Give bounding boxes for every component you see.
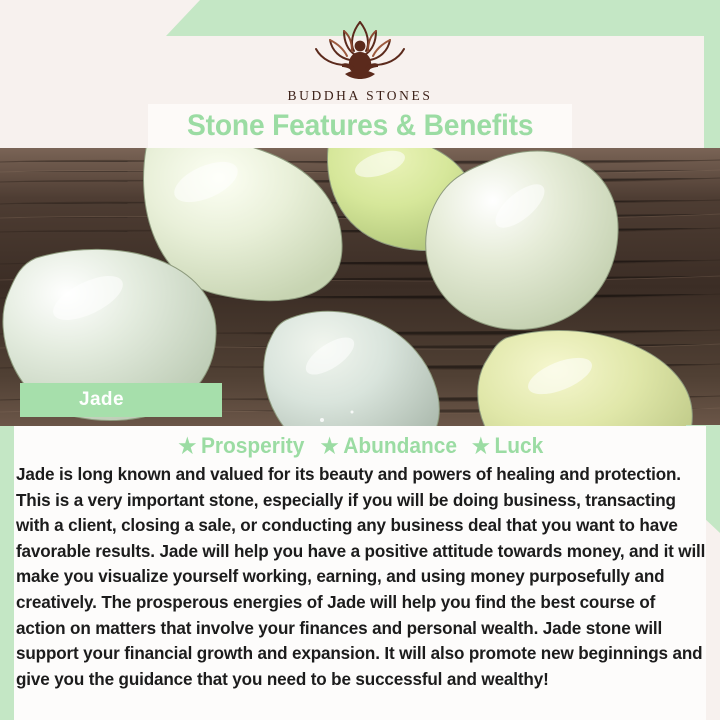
benefit-label: Abundance [343, 433, 457, 459]
benefit-prosperity: ★ Prosperity [179, 433, 305, 459]
benefit-label: Prosperity [201, 433, 304, 459]
brand-name: BUDDHA STONES [288, 88, 433, 104]
stone-name-label: Jade [20, 383, 222, 417]
star-icon: ★ [179, 436, 197, 457]
benefit-abundance: ★ Abundance [321, 433, 457, 459]
stone-name-text: Jade [79, 389, 124, 411]
title-banner: Stone Features & Benefits [148, 104, 572, 148]
stone-benefits-infographic: BUDDHA STONES Stone Features & Benefits [0, 0, 720, 720]
benefit-label: Luck [494, 433, 543, 459]
stone-description-text: Jade is long known and valued for its be… [16, 462, 706, 692]
star-icon: ★ [471, 436, 489, 457]
page-title: Stone Features & Benefits [187, 109, 533, 143]
lotus-meditation-icon [300, 18, 420, 84]
star-icon: ★ [321, 436, 339, 457]
stone-description: Jade is long known and valued for its be… [16, 462, 706, 692]
benefit-luck: ★ Luck [471, 433, 542, 459]
benefits-row: ★ Prosperity ★ Abundance ★ Luck [0, 430, 720, 462]
brand-logo: BUDDHA STONES [0, 18, 720, 104]
